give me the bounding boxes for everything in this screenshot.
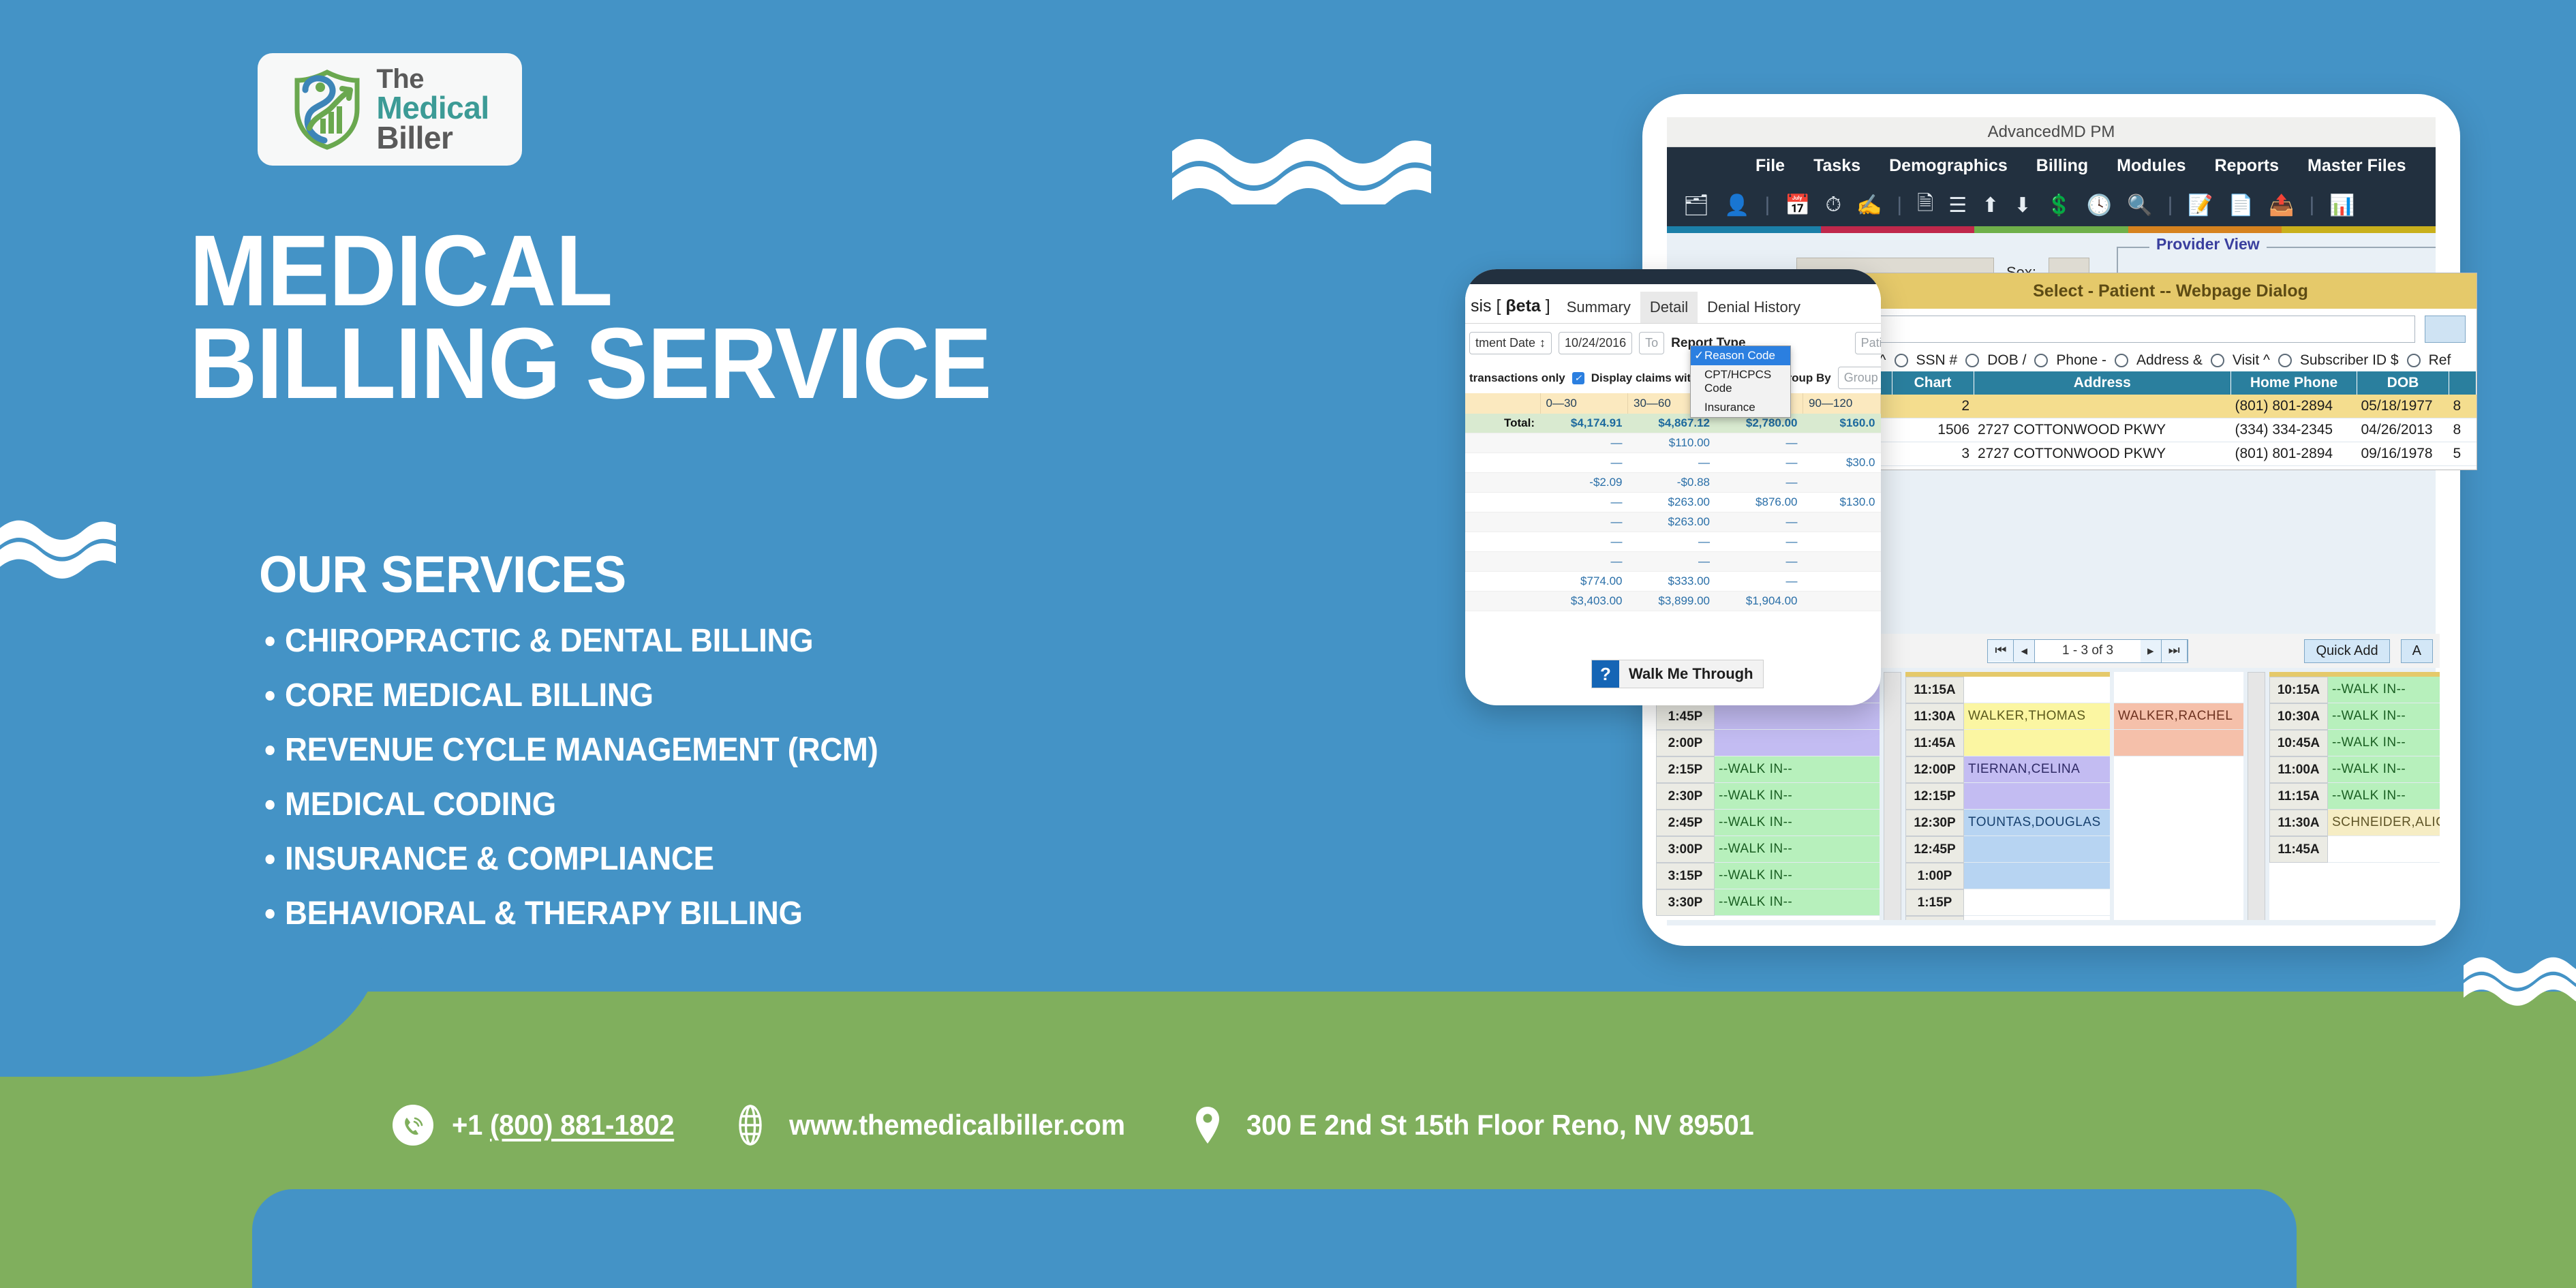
logo-wordmark: The Medical Biller [376, 66, 489, 153]
globe-icon [729, 1104, 771, 1146]
table-row: —$110.00— [1465, 433, 1881, 453]
menu-item-master-files[interactable]: Master Files [2307, 156, 2406, 176]
slot-event: --WALK IN-- [2328, 677, 2440, 703]
window-titlebar: AdvancedMD PM [1667, 117, 2436, 147]
slot-row[interactable]: 3:30P--WALK IN-- [1656, 889, 1880, 916]
slot-row[interactable]: 11:45A [2269, 836, 2440, 863]
slot-event: --WALK IN-- [1715, 810, 1880, 836]
patient-search-input[interactable] [1875, 316, 2415, 343]
col-tail[interactable] [2449, 371, 2477, 395]
slot-time: 12:15P [1905, 783, 1964, 810]
aging-cell: — [1715, 453, 1803, 473]
strip-orange [2128, 226, 2282, 233]
list-item: INSURANCE & COMPLIANCE [259, 840, 878, 878]
slot-time: 10:15A [2269, 677, 2328, 703]
slot-time: 12:00P [1905, 756, 1964, 783]
slot-event: TOUNTAS,DOUGLAS [1964, 810, 2110, 836]
slot-row[interactable]: 11:30ASCHNEIDER,ALICIA [2269, 810, 2440, 836]
cell-phone: (801) 801-2894 [2231, 395, 2357, 418]
col-phone[interactable]: Home Phone [2231, 371, 2357, 395]
cell-phone: (334) 334-2345 [2231, 418, 2357, 442]
title-prefix: sis [ [1471, 296, 1505, 316]
slot-time: 3:30P [1656, 889, 1715, 916]
slot-event: TIERNAN,CELINA [1964, 756, 2110, 783]
map-pin-icon [1186, 1104, 1229, 1146]
tab-denial-history[interactable]: Denial History [1698, 292, 1810, 323]
headline-line-2: BILLING SERVICE [189, 318, 992, 410]
slot-time: 11:45A [1905, 730, 1964, 756]
tab-summary[interactable]: Summary [1557, 292, 1640, 323]
aging-cell: $130.0 [1803, 493, 1881, 512]
aging-cell: — [1715, 572, 1803, 592]
cell-tail: 8 [2449, 418, 2477, 442]
slot-event: --WALK IN-- [1715, 863, 1880, 889]
slot-time: 11:30A [2269, 810, 2328, 836]
table-header-row: Chart Address Home Phone DOB [1865, 371, 2477, 395]
slot-event [1964, 889, 2110, 916]
aging-cell: $263.00 [1628, 512, 1716, 532]
radio-address[interactable] [2115, 354, 2128, 367]
slot-time: 2:45P [1656, 810, 1715, 836]
aging-cell: — [1540, 453, 1628, 473]
list-item: MEDICAL CODING [259, 786, 878, 823]
table-row: ———$30.0 [1465, 453, 1881, 473]
aging-cell: — [1715, 532, 1803, 552]
service-label: REVENUE CYCLE MANAGEMENT (RCM) [285, 731, 878, 769]
bullet-icon [266, 691, 275, 701]
slot-row[interactable] [2114, 730, 2243, 756]
bullet-icon [266, 637, 275, 646]
slot-event: --WALK IN-- [1715, 756, 1880, 783]
slot-time: 11:15A [2269, 783, 2328, 810]
table-row[interactable]: 3 2727 COTTONWOOD PKWY (801) 801-2894 09… [1865, 442, 2477, 466]
dialog-search-row [1865, 309, 2477, 350]
aging-cell: $263.00 [1628, 493, 1716, 512]
table-row[interactable]: 1506 2727 COTTONWOOD PKWY (334) 334-2345… [1865, 418, 2477, 442]
scheduler-scrollbar-mid[interactable]: ▾ [2248, 672, 2265, 920]
denial-window-topbar [1465, 269, 1881, 284]
select-patient-dialog: Select - Patient -- Webpage Dialog t ^ S… [1864, 273, 2477, 470]
slot-row[interactable]: 10:45A--WALK IN-- [2269, 730, 2440, 756]
slot-time: 1:30P [1905, 916, 1964, 920]
strip-blue [1667, 226, 1821, 233]
menu-bar: File Tasks Demographics Billing Modules … [1667, 147, 2436, 184]
radio-ssn[interactable] [1895, 354, 1908, 367]
slot-time: 11:15A [1905, 677, 1964, 703]
date-to-input[interactable]: To [1639, 332, 1664, 354]
patient-card-icon[interactable]: 🗂 [1683, 194, 1709, 217]
cell-address: 2727 COTTONWOOD PKWY [1974, 418, 2231, 442]
slot-time: 2:30P [1656, 783, 1715, 810]
transactions-only-label: transactions only [1469, 371, 1565, 385]
menu-item-modules[interactable]: Modules [2117, 156, 2186, 176]
wave-decoration-left [0, 511, 116, 579]
zero-balance-checkbox[interactable]: ✓ [1572, 372, 1584, 384]
slot-time: 3:00P [1656, 836, 1715, 863]
radio-visit[interactable] [2211, 354, 2224, 367]
aging-summary-table: 0—30 30—60 60—90 90—120 Total: $4,174.91… [1465, 393, 1881, 611]
dialog-title: Select - Patient -- Webpage Dialog [1865, 273, 2477, 309]
service-label: CORE MEDICAL BILLING [285, 677, 654, 714]
slot-row[interactable]: 10:30A--WALK IN-- [2269, 703, 2440, 730]
table-row[interactable]: 2 (801) 801-2894 05/18/1977 8 [1865, 395, 2477, 418]
toolbar-separator: | [2168, 194, 2173, 217]
service-label: CHIROPRACTIC & DENTAL BILLING [285, 622, 813, 660]
wave-decoration-top [1172, 136, 1431, 204]
aging-cell: — [1540, 532, 1628, 552]
slot-row[interactable]: 2:15P--WALK IN-- [1656, 756, 1880, 783]
report-type-dropdown: Reason Code CPT/HCPCS Code Insurance [1690, 346, 1791, 418]
scheduler-column-left: 1:30P 1:45P 2:00P 2:15P--WALK IN-- 2:30P… [1656, 672, 1880, 920]
chart-bar-icon[interactable]: 📊 [2329, 194, 2355, 217]
menu-item-reports[interactable]: Reports [2215, 156, 2279, 176]
radio-subscriber[interactable] [2278, 354, 2292, 367]
cell-dob: 09/16/1978 [2357, 442, 2449, 466]
slot-event: --WALK IN-- [1715, 783, 1880, 810]
tab-detail[interactable]: Detail [1640, 292, 1698, 323]
list-item: REVENUE CYCLE MANAGEMENT (RCM) [259, 731, 878, 769]
denial-options-row: transactions only ✓ Display claims with … [1465, 363, 1881, 393]
strip-green [1974, 226, 2128, 233]
radio-label-dob: DOB / [1987, 352, 2026, 369]
col-address[interactable]: Address [1974, 371, 2231, 395]
aging-cell [1803, 473, 1881, 493]
slot-event [1964, 916, 2110, 920]
slot-event: --WALK IN-- [2328, 783, 2440, 810]
slot-row[interactable]: 3:00P--WALK IN-- [1656, 836, 1880, 863]
aging-cell: — [1715, 552, 1803, 572]
contact-phone[interactable]: +1 (800) 881-1802 [392, 1104, 686, 1146]
bullet-icon [266, 855, 275, 864]
table-row: $774.00$333.00— [1465, 572, 1881, 592]
clock-alert-icon[interactable]: ⏱ [1826, 194, 1841, 217]
clock-icon[interactable]: 🕓 [2087, 194, 2112, 217]
blue-bottom-card [252, 1189, 2297, 1288]
up-arrow-icon[interactable]: ⬆ [1982, 194, 1999, 217]
slot-row[interactable]: 2:30P--WALK IN-- [1656, 783, 1880, 810]
group-by-value: Group By: [1844, 371, 1881, 385]
slot-time: 11:00A [2269, 756, 2328, 783]
slot-row[interactable]: 11:45A [1905, 730, 2110, 756]
contact-address: 300 E 2nd St 15th Floor Reno, NV 89501 [1186, 1104, 1781, 1146]
slot-row[interactable]: 2:00P [1656, 730, 1880, 756]
bullet-icon [266, 746, 275, 755]
cell-tail: 5 [2449, 442, 2477, 466]
aging-cell: — [1715, 473, 1803, 493]
edit-doc-icon[interactable]: 📝 [2188, 194, 2213, 217]
calendar-icon[interactable]: 📅 [1785, 194, 1810, 217]
slot-event: --WALK IN-- [2328, 730, 2440, 756]
aging-total-label: Total: [1465, 414, 1540, 433]
aging-cell: — [1540, 433, 1628, 453]
pager-first-button[interactable]: ⏮ [1988, 640, 2014, 662]
cell-chart: 1506 [1892, 418, 1974, 442]
dropdown-option-cpt-hcpcs[interactable]: CPT/HCPCS Code [1691, 365, 1790, 398]
headline-line-1: MEDICAL [189, 225, 992, 318]
aging-cell: — [1715, 433, 1803, 453]
slot-event: --WALK IN-- [2328, 703, 2440, 730]
aging-cell: -$0.88 [1628, 473, 1716, 493]
menu-item-utilities[interactable]: U [2435, 156, 2436, 176]
search-button[interactable] [2425, 316, 2466, 343]
list-item: BEHAVIORAL & THERAPY BILLING [259, 895, 878, 932]
slot-row[interactable]: 2:45P--WALK IN-- [1656, 810, 1880, 836]
slot-event: WALKER,THOMAS [1964, 703, 2110, 730]
table-row: —$263.00— [1465, 512, 1881, 532]
walk-me-through-widget[interactable]: ? Walk Me Through [1591, 660, 1764, 688]
slot-event [2114, 730, 2243, 756]
wave-decoration-right [2464, 944, 2576, 1012]
cell-phone: (801) 801-2894 [2231, 442, 2357, 466]
slot-row[interactable]: 1:45P [1656, 703, 1880, 730]
aging-cell [1803, 592, 1881, 611]
slot-time: 2:00P [1656, 730, 1715, 756]
scheduler-columns: 1:30P 1:45P 2:00P 2:15P--WALK IN-- 2:30P… [1656, 668, 2440, 920]
aging-cell [1803, 512, 1881, 532]
bullet-icon [266, 909, 275, 919]
toolbar-separator: | [1897, 194, 1902, 217]
title-suffix: ] [1541, 296, 1550, 316]
services-heading: OUR SERVICES [259, 545, 878, 604]
radio-label-ssn: SSN # [1916, 352, 1958, 369]
cell-dob: 04/26/2013 [2357, 418, 2449, 442]
slot-row[interactable] [2114, 677, 2243, 703]
radio-label-subscriber: Subscriber ID $ [2300, 352, 2399, 369]
slot-time: 2:15P [1656, 756, 1715, 783]
slot-event: --WALK IN-- [1715, 889, 1880, 916]
cell-address: 2727 COTTONWOOD PKWY [1974, 442, 2231, 466]
radio-label-phone: Phone - [2056, 352, 2106, 369]
service-label: INSURANCE & COMPLIANCE [285, 840, 714, 878]
aging-col-blank [1465, 393, 1540, 414]
slot-row[interactable]: 10:15A--WALK IN-- [2269, 677, 2440, 703]
aging-cell: $110.00 [1628, 433, 1716, 453]
slot-event: --WALK IN-- [2328, 756, 2440, 783]
menu-item-demographics[interactable]: Demographics [1889, 156, 2008, 176]
window-title: AdvancedMD PM [1988, 123, 2115, 142]
slot-event [1964, 730, 2110, 756]
slot-row[interactable]: 12:00PTIERNAN,CELINA [1905, 756, 2110, 783]
aging-cell: — [1540, 512, 1628, 532]
aging-total-row: Total: $4,174.91 $4,867.12 $2,780.00 $16… [1465, 414, 1881, 433]
provider-view-label: Provider View [2149, 235, 2267, 254]
aging-cell: $876.00 [1715, 493, 1803, 512]
pager-prev-button[interactable]: ◂ [2014, 640, 2035, 662]
slot-time: 10:45A [2269, 730, 2328, 756]
cell-chart: 2 [1892, 395, 1974, 418]
radio-phone[interactable] [2034, 354, 2048, 367]
claims-icon[interactable]: 📤 [2269, 194, 2294, 217]
pager-next-button[interactable]: ▸ [2141, 640, 2162, 662]
phone-prefix: +1 [452, 1109, 490, 1141]
slot-event [1964, 677, 2110, 703]
aging-cell: $3,403.00 [1540, 592, 1628, 611]
patient-results-table: Chart Address Home Phone DOB 2 (801) 801… [1865, 371, 2477, 466]
list-icon[interactable]: ☰ [1948, 194, 1967, 217]
page-title: MEDICAL BILLING SERVICE [189, 225, 992, 410]
bullet-icon [266, 800, 275, 810]
radio-ref[interactable] [2407, 354, 2421, 367]
scheduler-column-mid: 11:15A 11:30AWALKER,THOMAS 11:45A 12:00P… [1905, 672, 2110, 920]
person-icon[interactable]: 👤 [1724, 194, 1749, 217]
denial-window-title: sis [ βeta ] [1471, 296, 1557, 323]
scheduler-column-right: 10:15A--WALK IN-- 10:30A--WALK IN-- 10:4… [2269, 672, 2440, 920]
date-type-label: tment Date [1475, 336, 1535, 350]
pagination-control: ⏮ ◂ 1 - 3 of 3 ▸ ⏭ [1987, 639, 2188, 663]
group-by-select[interactable]: Group By:↕ [1838, 367, 1881, 389]
slot-time: 11:45A [2269, 836, 2328, 863]
updown-icon: ↕ [1539, 336, 1546, 350]
aging-col-90-120: 90—120 [1803, 393, 1881, 414]
cell-dob: 05/18/1977 [2357, 395, 2449, 418]
scheduler-scrollbar-left[interactable]: ▾ [1884, 672, 1901, 920]
aging-cell: — [1628, 532, 1716, 552]
radio-label-ref: Ref [2429, 352, 2451, 369]
aging-header-row: 0—30 30—60 60—90 90—120 [1465, 393, 1881, 414]
slot-time: 3:15P [1656, 863, 1715, 889]
slot-row[interactable]: 1:30P [1905, 916, 2110, 920]
menu-item-tasks[interactable]: Tasks [1813, 156, 1860, 176]
aging-cell: -$2.09 [1540, 473, 1628, 493]
scheduler-column-mid2: WALKER,RACHEL [2114, 672, 2243, 920]
slot-row[interactable]: 1:15P [1905, 889, 2110, 916]
slot-row[interactable]: 11:15A [1905, 677, 2110, 703]
table-row: ——— [1465, 532, 1881, 552]
aging-cell: $774.00 [1540, 572, 1628, 592]
icon-toolbar: 🗂 👤 | 📅 ⏱ ✍ | 🗎 ☰ ⬆ ⬇ 💲 🕓 🔍 | 📝 📄 📤 | [1667, 184, 2436, 226]
date-type-select[interactable]: tment Date↕ [1469, 332, 1552, 354]
slot-time: 12:45P [1905, 836, 1964, 863]
slot-row[interactable]: WALKER,RACHEL [2114, 703, 2243, 730]
aging-cell: $30.0 [1803, 453, 1881, 473]
list-item: CORE MEDICAL BILLING [259, 677, 878, 714]
pager-label: 1 - 3 of 3 [2035, 640, 2141, 662]
service-label: BEHAVIORAL & THERAPY BILLING [285, 895, 803, 932]
cell-tail: 8 [2449, 395, 2477, 418]
slot-row[interactable]: 11:15A--WALK IN-- [2269, 783, 2440, 810]
aging-cell: $333.00 [1628, 572, 1716, 592]
cell-chart: 3 [1892, 442, 1974, 466]
aging-cell [1803, 433, 1881, 453]
title-beta: βeta [1505, 296, 1540, 316]
slot-event [1715, 730, 1880, 756]
search-filter-radios: t ^ SSN # DOB / Phone - Address & Visit … [1865, 350, 2477, 371]
slot-event [2114, 677, 2243, 703]
money-icon[interactable]: 💲 [2046, 194, 2071, 217]
radio-label-visit: Visit ^ [2233, 352, 2270, 369]
toolbar-color-strip [1667, 226, 2436, 233]
slot-event [1964, 863, 2110, 889]
contact-website[interactable]: www.themedicalbiller.com [729, 1104, 1143, 1146]
aging-total-90-120: $160.0 [1803, 414, 1881, 433]
slot-event: SCHNEIDER,ALICIA [2328, 810, 2440, 836]
table-row: ——— [1465, 552, 1881, 572]
logo-text-biller: Biller [376, 123, 489, 153]
dropdown-option-insurance[interactable]: Insurance [1691, 398, 1790, 417]
aging-cell: $3,899.00 [1628, 592, 1716, 611]
slot-row[interactable]: 11:00A--WALK IN-- [2269, 756, 2440, 783]
slot-row[interactable]: 12:30PTOUNTAS,DOUGLAS [1905, 810, 2110, 836]
walk-me-through-label: Walk Me Through [1619, 665, 1763, 683]
question-mark-icon: ? [1592, 660, 1619, 688]
service-label: MEDICAL CODING [285, 786, 556, 823]
aging-cell: — [1628, 552, 1716, 572]
table-row: -$2.09-$0.88— [1465, 473, 1881, 493]
denial-filter-row: tment Date↕ 10/24/2016 To Report Type Pa… [1465, 324, 1881, 363]
footer-contact-bar: +1 (800) 881-1802 www.themedicalbiller.c… [392, 1104, 1781, 1146]
patient-select-value: Patient [1861, 336, 1881, 350]
ledger-icon[interactable]: 🗎 [1917, 188, 1933, 223]
strip-red [1821, 226, 1975, 233]
slot-time: 1:45P [1656, 703, 1715, 730]
extra-button[interactable]: A [2401, 639, 2433, 663]
aging-cell: — [1540, 552, 1628, 572]
menu-item-billing[interactable]: Billing [2036, 156, 2088, 176]
brand-logo: The Medical Biller [258, 53, 522, 166]
services-list: CHIROPRACTIC & DENTAL BILLING CORE MEDIC… [259, 622, 910, 932]
logo-text-medical: Medical [376, 93, 489, 123]
slot-row[interactable]: 3:15P--WALK IN-- [1656, 863, 1880, 889]
phone-text: +1 (800) 881-1802 [452, 1109, 674, 1141]
slot-event: WALKER,RACHEL [2114, 703, 2243, 730]
services-section: OUR SERVICES CHIROPRACTIC & DENTAL BILLI… [259, 545, 910, 949]
aging-cell [1803, 552, 1881, 572]
slot-event [1715, 703, 1880, 730]
toolbar-separator: | [1764, 194, 1770, 217]
phone-number: (800) 881-1802 [490, 1109, 674, 1141]
date-from-input[interactable]: 10/24/2016 [1559, 332, 1632, 354]
denial-analysis-window: sis [ βeta ] Summary Detail Denial Histo… [1465, 269, 1881, 705]
patient-select[interactable]: Patient⇣ [1855, 332, 1881, 354]
aging-col-0-30: 0—30 [1540, 393, 1628, 414]
address-text: 300 E 2nd St 15th Floor Reno, NV 89501 [1246, 1109, 1753, 1141]
slot-time: 11:30A [1905, 703, 1964, 730]
slot-event [2328, 836, 2440, 863]
slot-time: 1:00P [1905, 863, 1964, 889]
aging-cell: — [1540, 493, 1628, 512]
slot-time: 12:30P [1905, 810, 1964, 836]
cell-address [1974, 395, 2231, 418]
slot-row[interactable]: 12:15P [1905, 783, 2110, 810]
find-doc-icon[interactable]: 📄 [2228, 194, 2254, 217]
radio-dob[interactable] [1965, 354, 1979, 367]
aging-cell [1803, 572, 1881, 592]
sign-icon[interactable]: ✍ [1856, 194, 1882, 217]
shield-logo-icon [290, 70, 364, 150]
radio-label-address: Address & [2136, 352, 2203, 369]
phone-ring-icon [392, 1104, 434, 1146]
list-item: CHIROPRACTIC & DENTAL BILLING [259, 622, 878, 660]
poster-stage: The Medical Biller MEDICAL BILLING SERVI… [0, 0, 2576, 1288]
slot-event [1964, 783, 2110, 810]
down-arrow-icon[interactable]: ⬇ [2014, 194, 2031, 217]
slot-row[interactable]: 12:45P [1905, 836, 2110, 863]
dropdown-option-reason-code[interactable]: Reason Code [1691, 346, 1790, 365]
toolbar-separator: | [2309, 194, 2314, 217]
col-chart[interactable]: Chart [1892, 371, 1974, 395]
col-dob[interactable]: DOB [2357, 371, 2449, 395]
pager-last-button[interactable]: ⏭ [2162, 640, 2188, 662]
menu-item-file[interactable]: File [1755, 156, 1785, 176]
slot-time: 10:30A [2269, 703, 2328, 730]
website-text: www.themedicalbiller.com [789, 1109, 1125, 1141]
quick-add-button[interactable]: Quick Add [2304, 639, 2389, 663]
aging-total-0-30: $4,174.91 [1540, 414, 1628, 433]
slot-row[interactable]: 11:30AWALKER,THOMAS [1905, 703, 2110, 730]
slot-event: --WALK IN-- [1715, 836, 1880, 863]
search-doc-icon[interactable]: 🔍 [2127, 194, 2152, 217]
slot-row[interactable]: 1:00P [1905, 863, 2110, 889]
